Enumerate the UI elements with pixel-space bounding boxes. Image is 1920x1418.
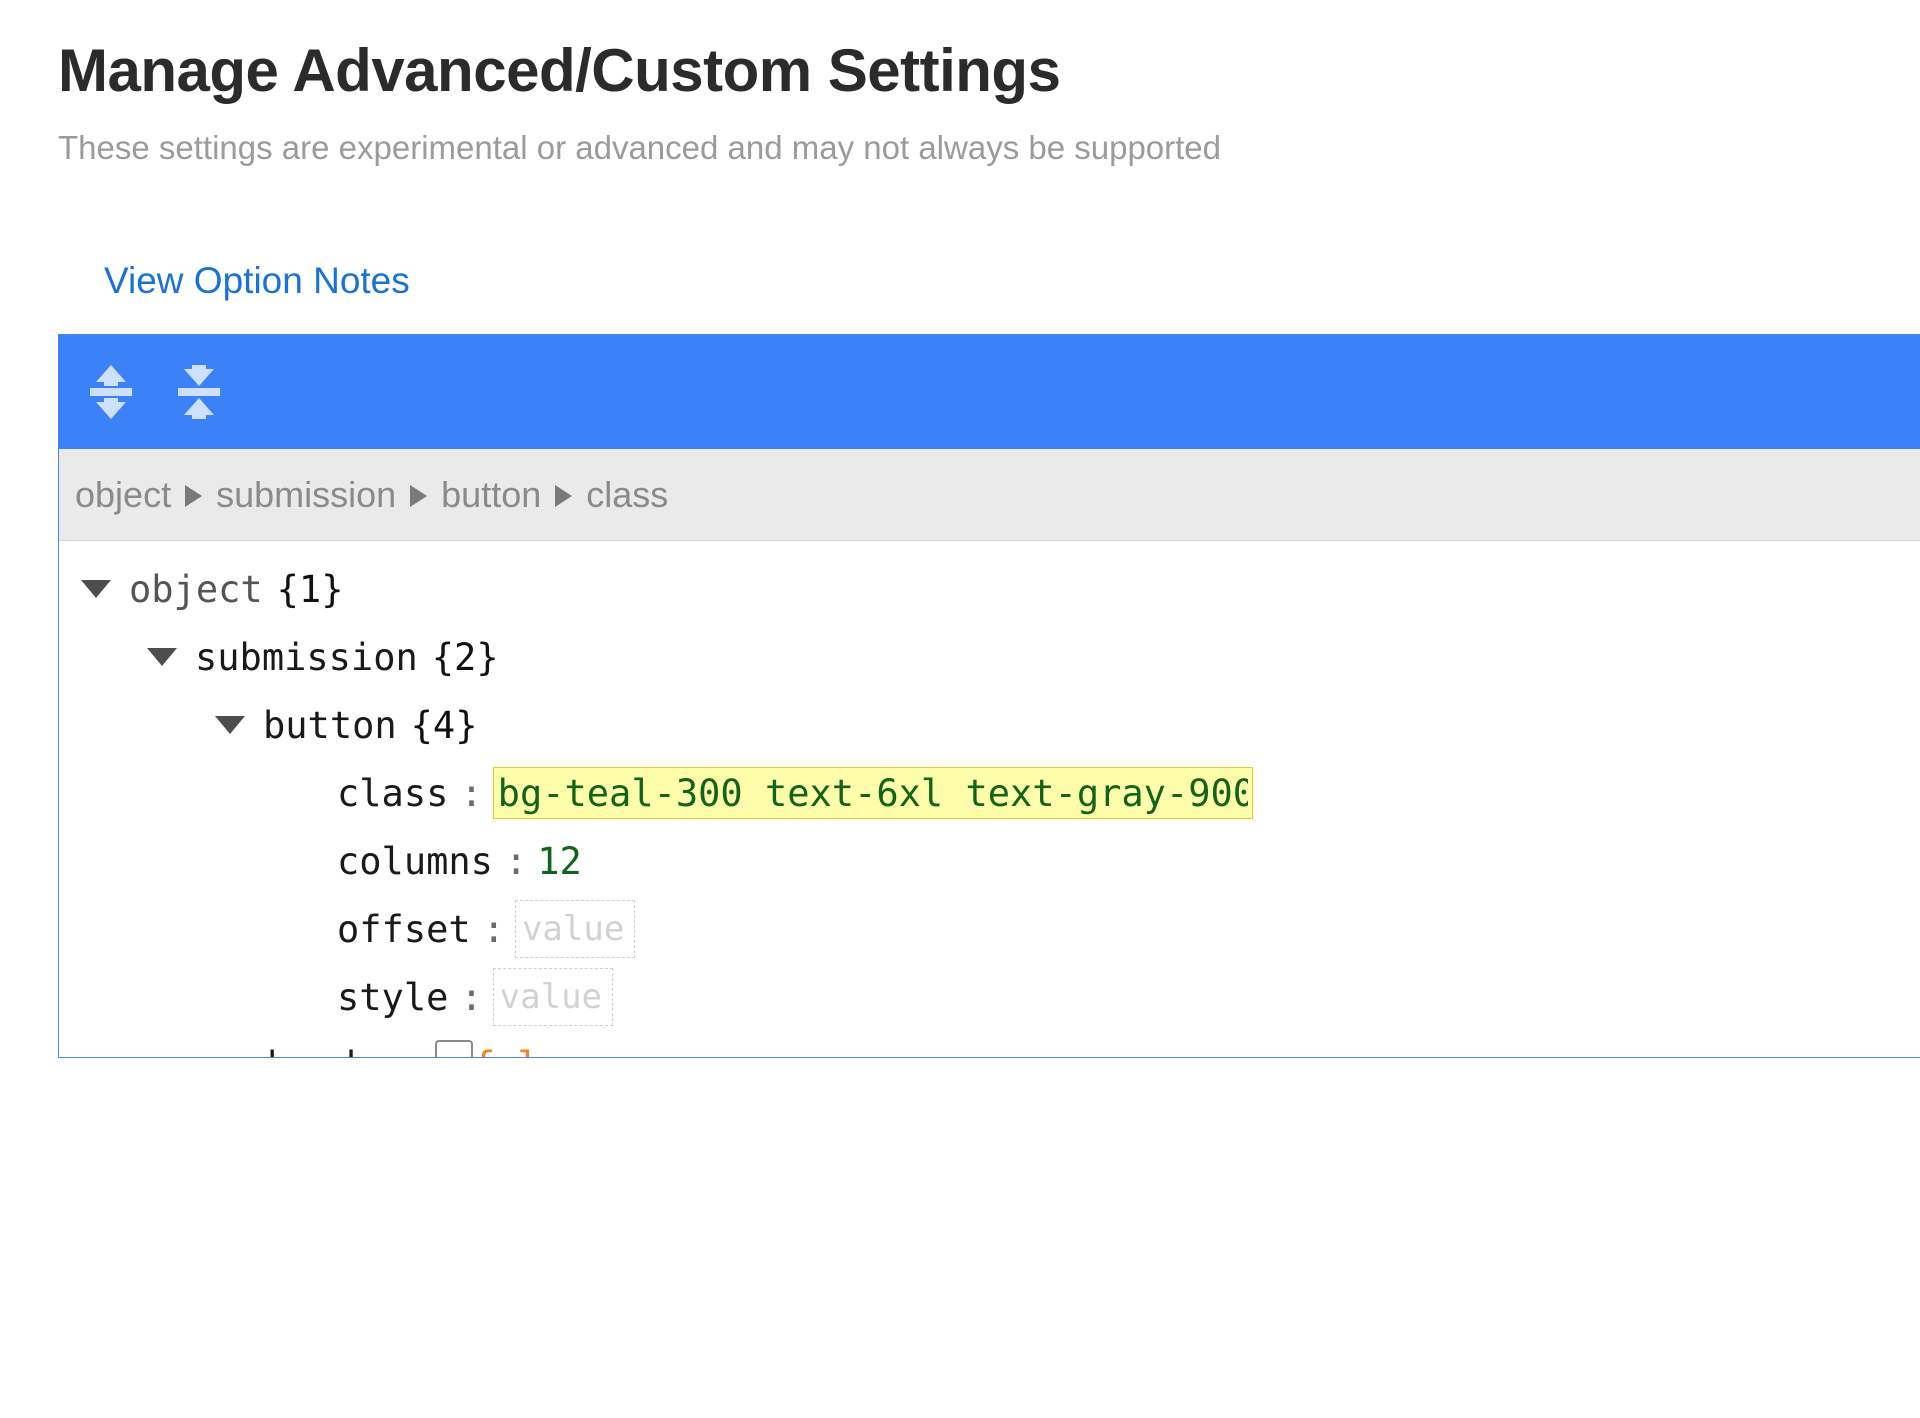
breadcrumb-item-button[interactable]: button — [441, 474, 541, 516]
property-value-columns[interactable]: 12 — [537, 840, 582, 883]
json-editor-toolbar — [59, 335, 1920, 449]
property-key-offset: offset — [337, 908, 471, 951]
breadcrumb-item-submission[interactable]: submission — [216, 474, 396, 516]
property-key-style: style — [337, 976, 448, 1019]
property-key-columns: columns — [337, 840, 493, 883]
tree-property-header: header : false — [59, 1031, 1920, 1058]
property-value-header-checkbox[interactable] — [435, 1040, 473, 1058]
property-colon: : — [505, 840, 527, 883]
tree-node-count: {4} — [411, 704, 478, 747]
tree-node-label: submission — [195, 636, 418, 679]
property-value-style-input[interactable] — [493, 968, 613, 1026]
property-key-header: header — [267, 1044, 401, 1059]
breadcrumb-item-object[interactable]: object — [75, 474, 171, 516]
tree-property-style: style : — [59, 963, 1920, 1031]
tree-node-object[interactable]: object {1} — [59, 555, 1920, 623]
property-value-class-input[interactable] — [493, 767, 1253, 819]
expand-all-icon — [85, 362, 137, 422]
tree-node-label: object — [129, 568, 263, 611]
tree-property-offset: offset : — [59, 895, 1920, 963]
property-colon: : — [460, 976, 482, 1019]
page-title: Manage Advanced/Custom Settings — [58, 36, 1920, 105]
collapse-all-button[interactable] — [169, 360, 229, 424]
property-value-header-label[interactable]: false — [473, 1044, 584, 1059]
settings-page: Manage Advanced/Custom Settings These se… — [0, 0, 1920, 1418]
tree-node-label: button — [263, 704, 397, 747]
expand-all-button[interactable] — [81, 360, 141, 424]
property-key-class: class — [337, 772, 448, 815]
notes-link-container: View Option Notes — [58, 260, 1920, 302]
view-option-notes-link[interactable]: View Option Notes — [104, 260, 410, 301]
property-colon: : — [483, 908, 505, 951]
caret-down-icon[interactable] — [147, 648, 177, 666]
chevron-right-icon — [410, 485, 427, 507]
property-colon: : — [411, 1044, 433, 1059]
breadcrumb-item-class[interactable]: class — [586, 474, 668, 516]
tree-node-count: {2} — [432, 636, 499, 679]
tree-property-columns: columns : 12 — [59, 827, 1920, 895]
tree-property-class: class : — [59, 759, 1920, 827]
breadcrumb: object submission button class — [75, 474, 668, 516]
tree-node-submission[interactable]: submission {2} — [59, 623, 1920, 691]
json-tree: object {1} submission {2} button {4} cla… — [59, 541, 1920, 1058]
caret-down-icon[interactable] — [81, 580, 111, 598]
caret-down-icon[interactable] — [215, 716, 245, 734]
breadcrumb-bar: object submission button class — [59, 449, 1920, 541]
page-subtitle: These settings are experimental or advan… — [58, 127, 1920, 168]
chevron-right-icon — [555, 485, 572, 507]
property-colon: : — [460, 772, 482, 815]
property-value-offset-input[interactable] — [515, 900, 635, 958]
tree-node-count: {1} — [277, 568, 344, 611]
chevron-right-icon — [185, 485, 202, 507]
json-editor-panel: object submission button class object {1… — [58, 334, 1920, 1058]
collapse-all-icon — [173, 362, 225, 422]
tree-node-button[interactable]: button {4} — [59, 691, 1920, 759]
